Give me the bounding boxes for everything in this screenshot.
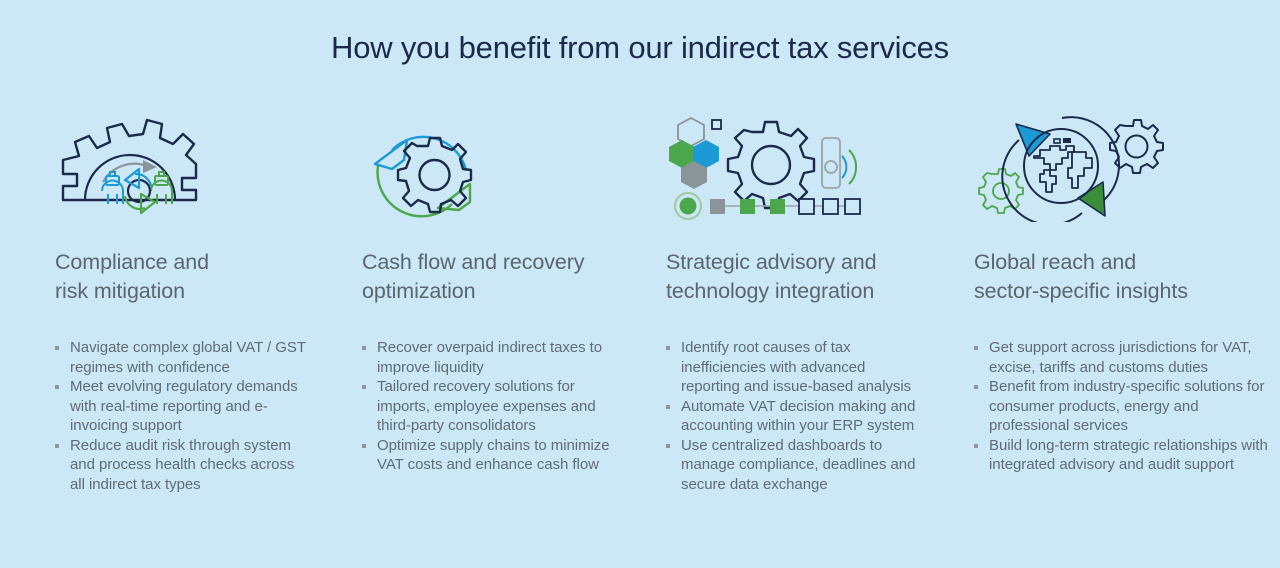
gear-circular-arrows-icon xyxy=(362,112,614,230)
benefit-column-compliance: Compliance and risk mitigation Navigate … xyxy=(0,112,307,494)
list-item: Build long-term strategic relationships … xyxy=(974,436,1280,475)
benefit-columns: Compliance and risk mitigation Navigate … xyxy=(0,112,1280,552)
list-item: Benefit from industry-specific solutions… xyxy=(974,377,1280,436)
list-item: Recover overpaid indirect taxes to impro… xyxy=(362,338,614,377)
list-item: Automate VAT decision making and account… xyxy=(666,397,922,436)
column-heading: Compliance and risk mitigation xyxy=(55,248,307,306)
hexagons-gear-sensor-progress-icon xyxy=(666,112,922,230)
list-item: Tailored recovery solutions for imports,… xyxy=(362,377,614,436)
benefit-bullet-list: Recover overpaid indirect taxes to impro… xyxy=(362,338,614,475)
benefit-column-global: Global reach and sector-specific insight… xyxy=(922,112,1280,475)
benefit-bullet-list: Navigate complex global VAT / GST regime… xyxy=(55,338,307,494)
page-title: How you benefit from our indirect tax se… xyxy=(0,30,1280,66)
globe-arrows-gears-icon xyxy=(974,112,1280,230)
column-heading: Global reach and sector-specific insight… xyxy=(974,248,1280,306)
column-heading: Cash flow and recovery optimization xyxy=(362,248,614,306)
list-item: Identify root causes of tax inefficienci… xyxy=(666,338,922,397)
slide-canvas: How you benefit from our indirect tax se… xyxy=(0,0,1280,568)
benefit-bullet-list: Get support across jurisdictions for VAT… xyxy=(974,338,1280,475)
list-item: Get support across jurisdictions for VAT… xyxy=(974,338,1280,377)
column-heading: Strategic advisory and technology integr… xyxy=(666,248,922,306)
list-item: Optimize supply chains to minimize VAT c… xyxy=(362,436,614,475)
benefit-column-cashflow: Cash flow and recovery optimization Reco… xyxy=(307,112,614,475)
list-item: Navigate complex global VAT / GST regime… xyxy=(55,338,307,377)
half-gear-people-icon xyxy=(55,112,307,230)
benefit-bullet-list: Identify root causes of tax inefficienci… xyxy=(666,338,922,494)
list-item: Meet evolving regulatory demands with re… xyxy=(55,377,307,436)
benefit-column-advisory: Strategic advisory and technology integr… xyxy=(614,112,922,494)
list-item: Reduce audit risk through system and pro… xyxy=(55,436,307,495)
list-item: Use centralized dashboards to manage com… xyxy=(666,436,922,495)
